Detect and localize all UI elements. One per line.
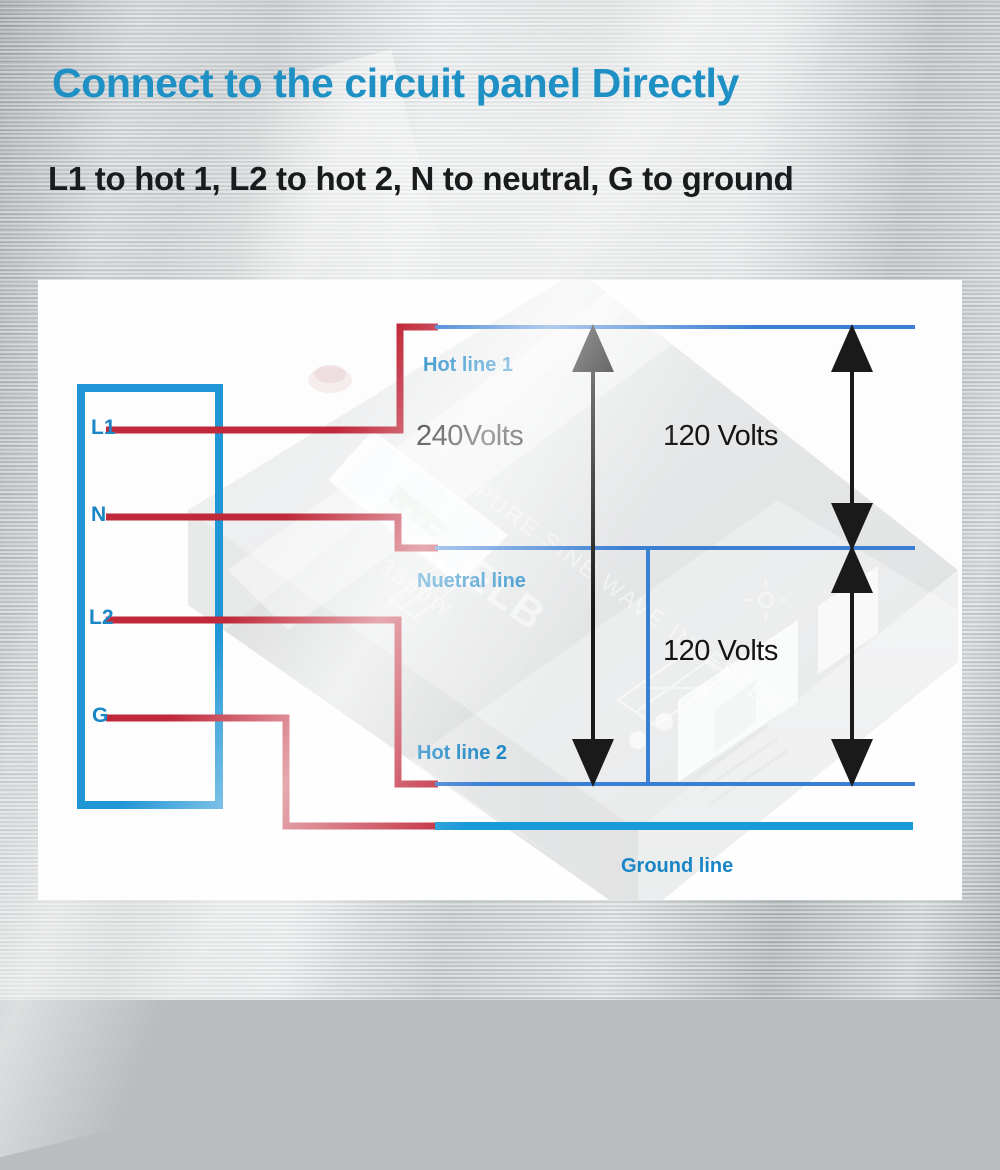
measure-label-120-volts-top: 120 Volts xyxy=(663,420,778,453)
terminal-label-l1: L1 xyxy=(91,416,116,440)
dimension-arrow-240v xyxy=(572,324,614,787)
label-neutral-line: Nuetral line xyxy=(417,570,526,593)
label-hot-line-2: Hot line 2 xyxy=(417,742,507,765)
wiring-diagram-panel: WZRELB 3500W PURE SINE WAVE INVERTER xyxy=(38,280,962,900)
wire-ground xyxy=(106,718,438,826)
terminal-label-l2: L2 xyxy=(89,606,114,630)
page-title: Connect to the circuit panel Directly xyxy=(52,60,952,107)
measure-label-240-volts: 240Volts xyxy=(416,420,523,453)
terminal-label-g: G xyxy=(92,704,108,728)
measure-label-120-volts-bottom: 120 Volts xyxy=(663,635,778,668)
terminal-label-n: N xyxy=(91,503,106,527)
wire-neutral xyxy=(106,517,438,548)
dimension-arrow-120v-bottom xyxy=(831,545,873,787)
label-ground-line: Ground line xyxy=(621,855,733,878)
wire-l1 xyxy=(106,327,438,430)
label-hot-line-1: Hot line 1 xyxy=(423,354,513,377)
wire-l2 xyxy=(106,620,438,784)
page-subtitle: L1 to hot 1, L2 to hot 2, N to neutral, … xyxy=(48,160,968,198)
breaker-panel-outline xyxy=(81,388,219,805)
dimension-arrow-120v-top xyxy=(831,324,873,551)
